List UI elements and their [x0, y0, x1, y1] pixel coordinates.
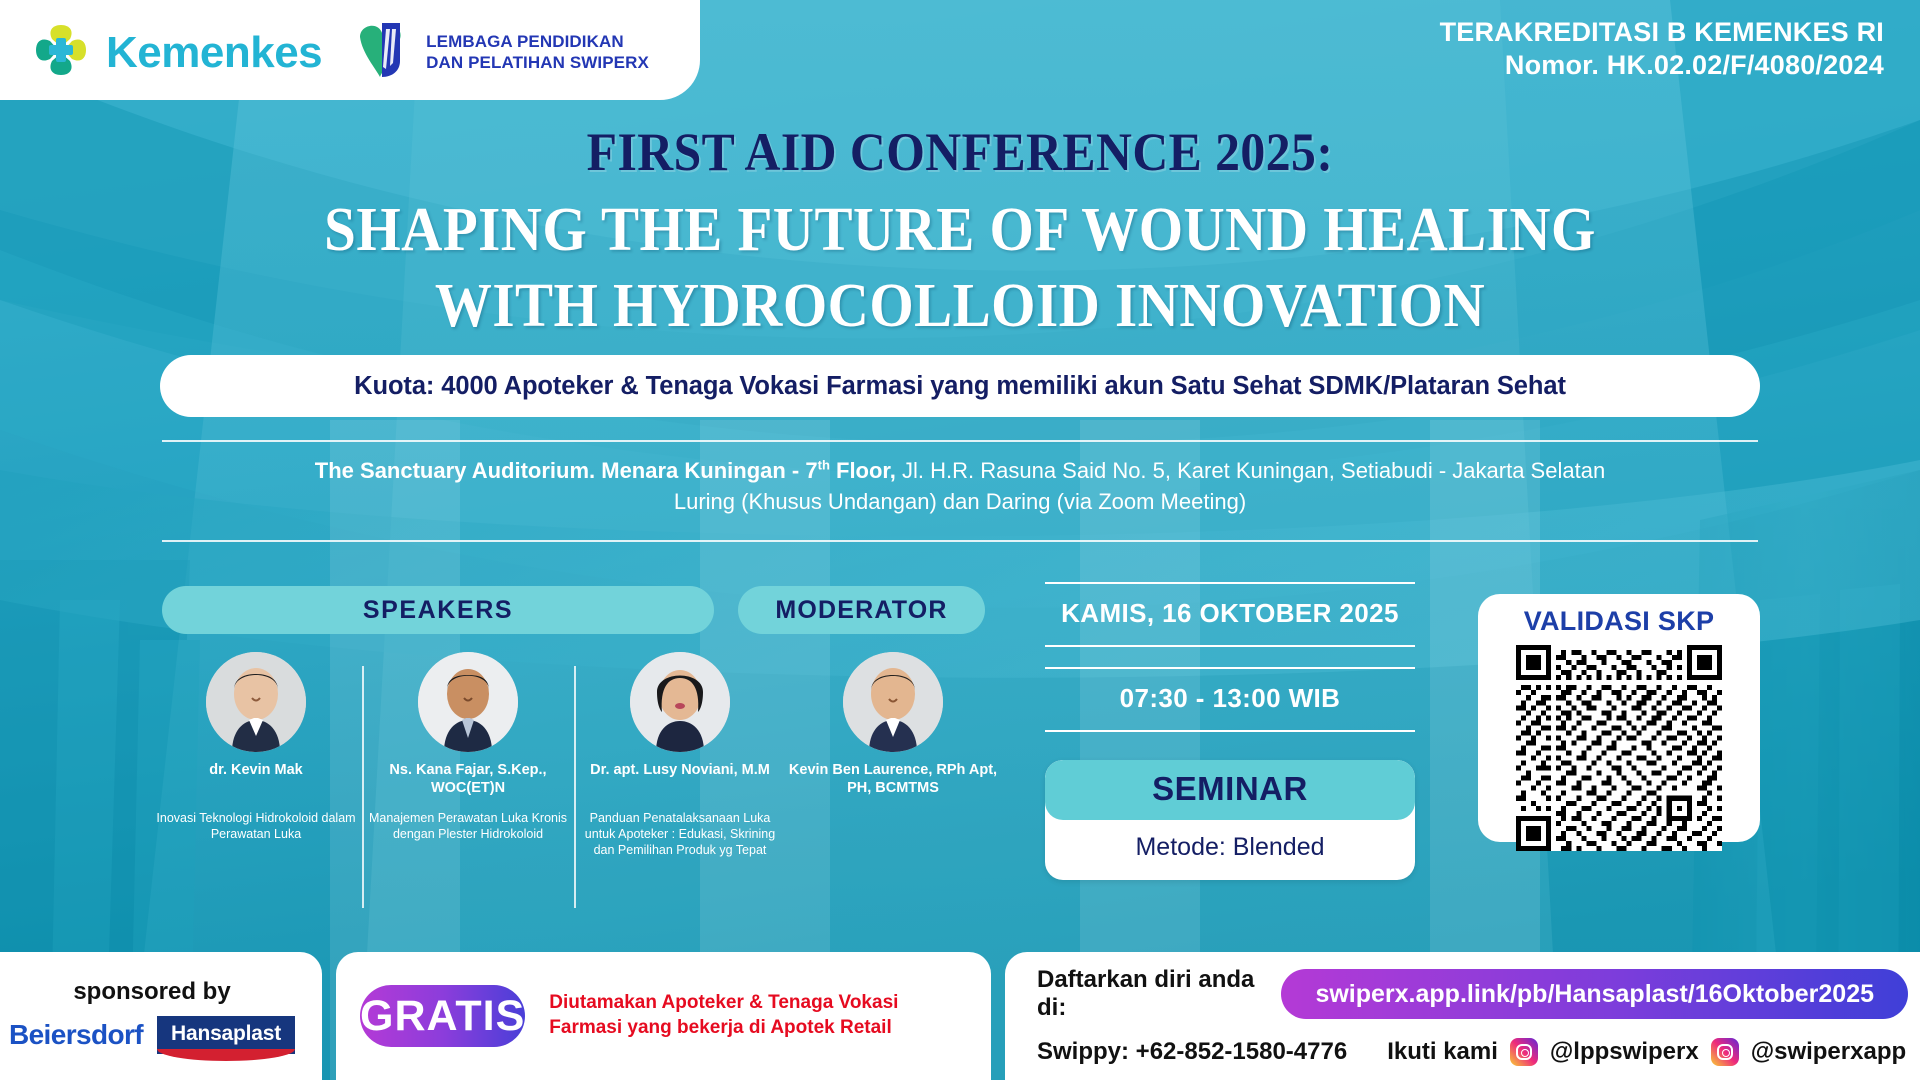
sponsor-logos: Beiersdorf Hansaplast [9, 1016, 295, 1054]
registration-card: Daftarkan diri anda di: swiperx.app.link… [1005, 952, 1920, 1080]
moderator-card: Kevin Ben Laurence, RPh Apt, PH, BCMTMS [786, 648, 1000, 908]
speaker-topic: Inovasi Teknologi Hidrokoloid dalam Pera… [150, 810, 362, 842]
lppswiperx-wordmark: LEMBAGA PENDIDIKAN DAN PELATIHAN SWIPERX [426, 32, 649, 72]
instagram-handle-lppswiperx[interactable]: @lppswiperx [1550, 1038, 1699, 1066]
event-date: KAMIS, 16 OKTOBER 2025 [1045, 584, 1415, 645]
speaker-divider [362, 666, 364, 908]
speakers-header-pill: SPEAKERS [162, 586, 714, 634]
gratis-note: Diutamakan Apoteker & Tenaga Vokasi Farm… [549, 991, 967, 1040]
title-line-2: SHAPING THE FUTURE OF WOUND HEALING [77, 199, 1843, 261]
lppswiperx-logo: LEMBAGA PENDIDIKAN DAN PELATIHAN SWIPERX [356, 19, 649, 86]
instagram-icon[interactable] [1711, 1038, 1739, 1066]
sponsored-by-label: sponsored by [73, 978, 230, 1006]
venue-bold-part-2: Floor, [830, 458, 896, 483]
speaker-topic: Panduan Penatalaksanaan Luka untuk Apote… [574, 810, 786, 858]
seminar-card: SEMINAR Metode: Blended [1045, 760, 1415, 880]
speaker-topic: Manajemen Perawatan Luka Kronis dengan P… [362, 810, 574, 842]
speaker-card: Dr. apt. Lusy Noviani, M.M Panduan Penat… [574, 648, 786, 908]
gratis-card: GRATIS Diutamakan Apoteker & Tenaga Voka… [336, 952, 991, 1080]
follow-label: Ikuti kami [1387, 1038, 1498, 1066]
speaker-card: Ns. Kana Fajar, S.Kep., WOC(ET)N Manajem… [362, 648, 574, 908]
schedule-divider-bottom [1045, 730, 1415, 732]
venue-bold-part: The Sanctuary Auditorium. Menara Kuninga… [315, 458, 818, 483]
register-label: Daftarkan diri anda di: [1037, 966, 1263, 1022]
avatar [630, 652, 730, 752]
kemenkes-mark-icon [30, 19, 92, 86]
venue-address-rest: Jl. H.R. Rasuna Said No. 5, Karet Kuning… [896, 458, 1605, 483]
moderator-name: Kevin Ben Laurence, RPh Apt, PH, BCMTMS [786, 762, 1000, 798]
skp-validation-card: VALIDASI SKP [1478, 594, 1760, 842]
instagram-icon[interactable] [1510, 1038, 1538, 1066]
title-line-1: FIRST AID CONFERENCE 2025: [77, 125, 1843, 179]
schedule-panel: KAMIS, 16 OKTOBER 2025 07:30 - 13:00 WIB… [1045, 582, 1415, 880]
qr-code[interactable] [1516, 645, 1722, 851]
venue-block: The Sanctuary Auditorium. Menara Kuninga… [160, 455, 1760, 517]
lppswiperx-mark-icon [356, 19, 414, 86]
title-line-3: WITH HYDROCOLLOID INNOVATION [77, 275, 1843, 337]
contact-row: Swippy: +62-852-1580-4776 Ikuti kami @lp… [1037, 1038, 1908, 1066]
swippy-phone[interactable]: Swippy: +62-852-1580-4776 [1037, 1038, 1347, 1066]
seminar-method: Metode: Blended [1045, 820, 1415, 880]
avatar [418, 652, 518, 752]
footer-bar: sponsored by Beiersdorf Hansaplast GRATI… [0, 952, 1920, 1080]
sponsor-card: sponsored by Beiersdorf Hansaplast [0, 952, 322, 1080]
seminar-type: SEMINAR [1045, 760, 1415, 820]
avatar [843, 652, 943, 752]
hansaplast-logo: Hansaplast [157, 1016, 295, 1054]
page-title: FIRST AID CONFERENCE 2025: SHAPING THE F… [0, 125, 1920, 337]
gratis-badge: GRATIS [360, 985, 525, 1047]
speaker-divider [574, 666, 576, 908]
social-follow: Ikuti kami @lppswiperx @swiperxapp [1387, 1038, 1906, 1066]
divider-above-venue [162, 440, 1758, 442]
registration-row: Daftarkan diri anda di: swiperx.app.link… [1037, 966, 1908, 1022]
accreditation-line-1: TERAKREDITASI B KEMENKES RI [1440, 16, 1884, 49]
kemenkes-wordmark: Kemenkes [106, 28, 322, 78]
kemenkes-logo: Kemenkes [30, 19, 322, 86]
beiersdorf-logo: Beiersdorf [9, 1019, 143, 1051]
avatar [206, 652, 306, 752]
accreditation-line-2: Nomor. HK.02.02/F/4080/2024 [1440, 49, 1884, 82]
venue-line-2: Luring (Khusus Undangan) dan Daring (via… [160, 486, 1760, 517]
venue-superscript: th [818, 458, 830, 473]
speaker-name: Ns. Kana Fajar, S.Kep., WOC(ET)N [362, 762, 574, 798]
lppswiperx-line-1: LEMBAGA PENDIDIKAN [426, 32, 624, 51]
accreditation-block: TERAKREDITASI B KEMENKES RI Nomor. HK.02… [1440, 16, 1884, 83]
people-row: dr. Kevin Mak Inovasi Teknologi Hidrokol… [150, 648, 1000, 908]
instagram-handle-swiperxapp[interactable]: @swiperxapp [1751, 1038, 1906, 1066]
speaker-name: dr. Kevin Mak [150, 762, 362, 798]
speaker-name: Dr. apt. Lusy Noviani, M.M [574, 762, 786, 798]
event-time: 07:30 - 13:00 WIB [1045, 669, 1415, 730]
partner-logo-card: Kemenkes LEMBAGA PENDIDIKAN DAN PELATIHA… [0, 0, 700, 100]
divider-below-venue [162, 540, 1758, 542]
register-link-button[interactable]: swiperx.app.link/pb/Hansaplast/16Oktober… [1281, 969, 1908, 1019]
venue-line-1: The Sanctuary Auditorium. Menara Kuninga… [160, 455, 1760, 486]
moderator-header-pill: MODERATOR [738, 586, 985, 634]
skp-title: VALIDASI SKP [1524, 606, 1715, 637]
lppswiperx-line-2: DAN PELATIHAN SWIPERX [426, 53, 649, 72]
speaker-card: dr. Kevin Mak Inovasi Teknologi Hidrokol… [150, 648, 362, 908]
quota-banner: Kuota: 4000 Apoteker & Tenaga Vokasi Far… [160, 355, 1760, 417]
